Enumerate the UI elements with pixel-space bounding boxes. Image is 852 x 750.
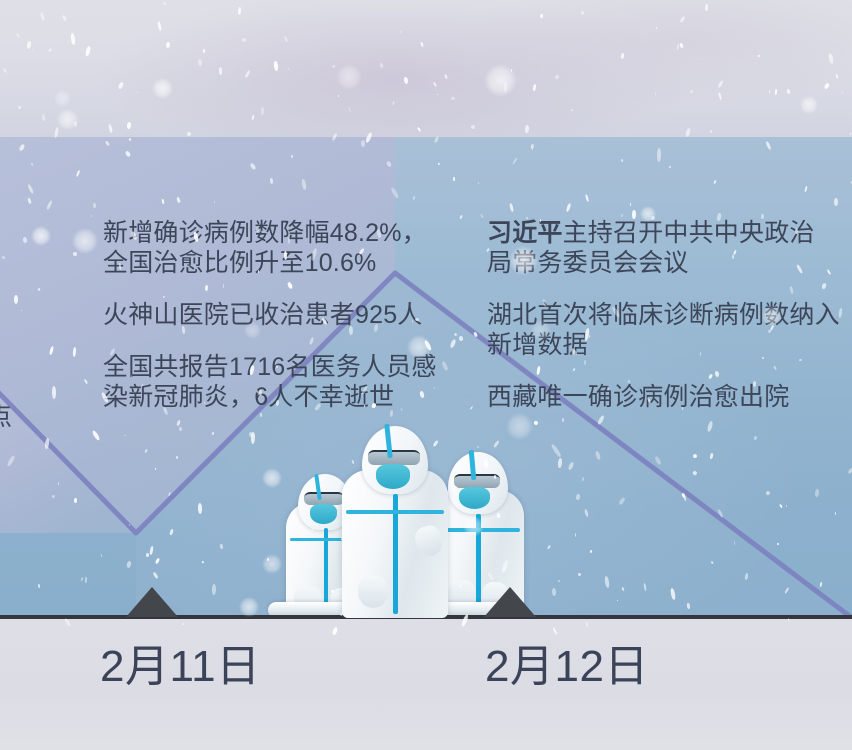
list-item: 火神山医院已收治患者925人 [103,300,455,330]
left-clipped-line-3: 重点 [0,402,52,432]
news-line: 全国治愈比例升至10.6% [103,248,455,278]
news-line: 新增确诊病例数降幅48.2%， [103,218,455,248]
list-item: 湖北首次将临床诊断病例数纳入 新增数据 [487,300,852,360]
news-line: 湖北首次将临床诊断病例数纳入 [487,300,852,330]
timeline-marker [126,587,178,617]
news-line: 全国共报告1716名医务人员感 [103,352,455,382]
news-line: 西藏唯一确诊病例治愈出院 [487,382,852,412]
date-label: 2月12日 [485,645,649,689]
news-line: 染新冠肺炎，6人不幸逝世 [103,382,455,412]
list-item: 新增确诊病例数降幅48.2%， 全国治愈比例升至10.6% [103,218,455,278]
news-line-rest: 主持召开中共中央政治 [563,219,815,247]
news-line: 火神山医院已收治患者925人 [103,300,455,330]
news-line: 局常务委员会会议 [487,248,852,278]
left-clipped-text-block-b: 重点 [0,342,52,492]
middle-news-column: 新增确诊病例数降幅48.2%， 全国治愈比例升至10.6% 火神山医院已收治患者… [103,218,455,412]
list-item: 全国共报告1716名医务人员感 染新冠肺炎，6人不幸逝世 [103,352,455,412]
worker-center [340,418,450,618]
news-line: 习近平主持召开中共中央政治 [487,218,852,248]
sky-gradient-band [0,0,852,137]
timeline-marker [484,587,536,617]
emphasis-text: 习近平 [487,219,563,247]
right-news-column: 习近平主持召开中共中央政治 局常务委员会会议 湖北首次将临床诊断病例数纳入 新增… [487,218,852,412]
list-item: 习近平主持召开中共中央政治 局常务委员会会议 [487,218,852,278]
list-item: 西藏唯一确诊病例治愈出院 [487,382,852,412]
news-line: 新增数据 [487,330,852,360]
date-label: 2月11日 [100,645,261,689]
infographic-canvas: 2月11日 2月12日 导新 工作 重点 新增确诊病例数降幅48.2%， 全国治… [0,0,852,750]
